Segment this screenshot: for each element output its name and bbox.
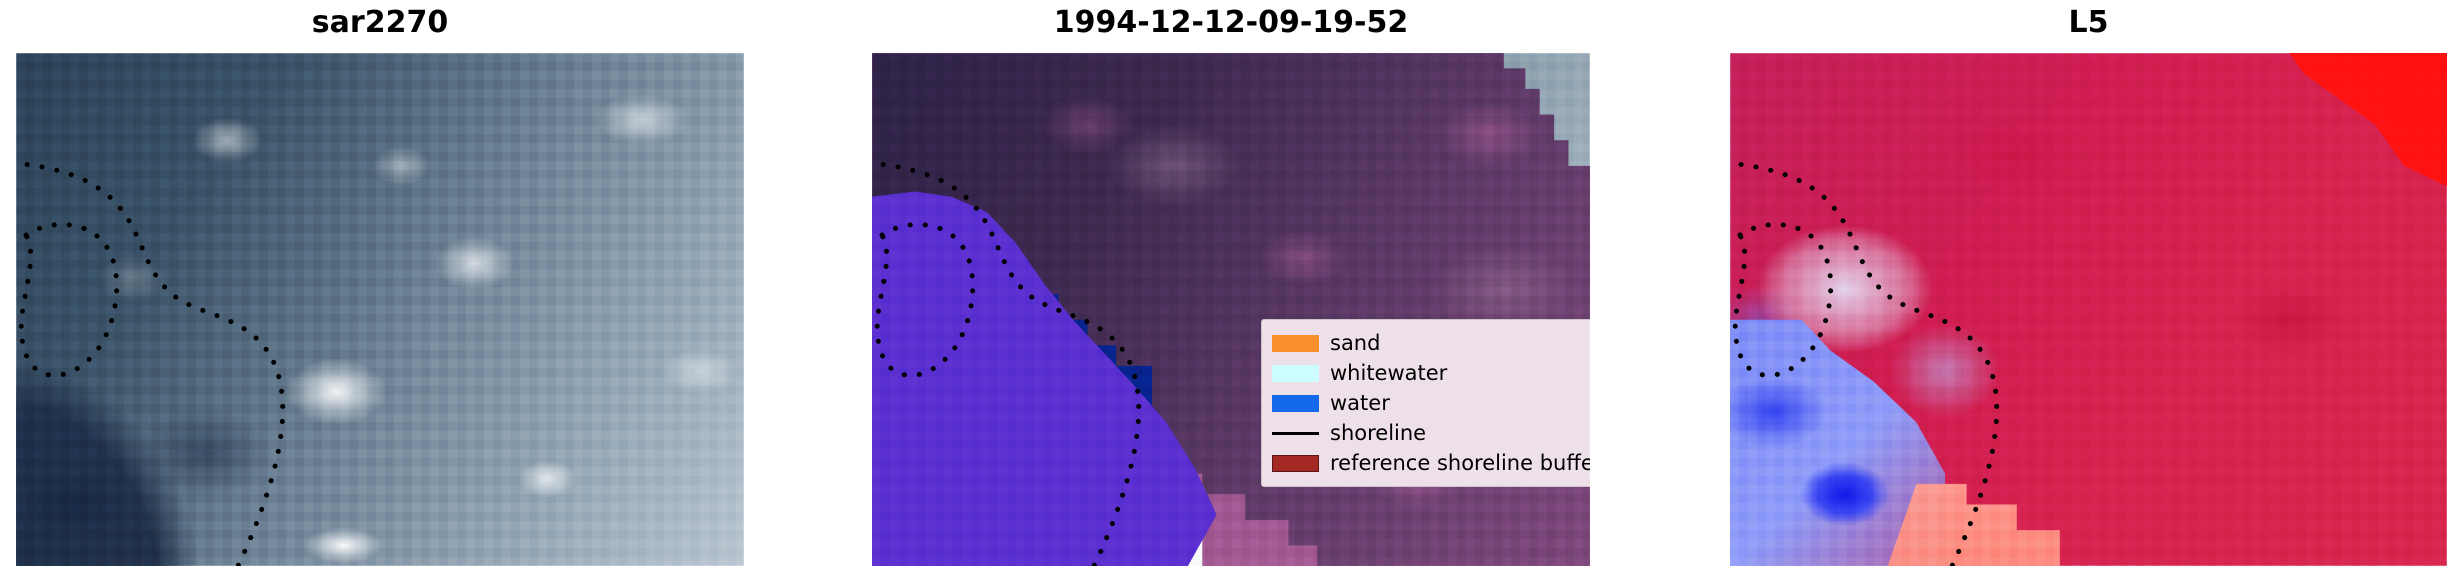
axes-l5 — [1730, 53, 2447, 566]
l5-pixel-grid — [1730, 53, 2447, 566]
legend-item-shoreline: shoreline — [1272, 418, 1590, 448]
legend-item-water: water — [1272, 388, 1590, 418]
classified-pixel-grid — [872, 53, 1590, 566]
legend-label-water: water — [1330, 388, 1390, 418]
legend-swatch-sand — [1272, 328, 1319, 358]
figure-canvas: sar2270 1994-12-12-09-19-52 — [0, 0, 2460, 582]
panel-classified: 1994-12-12-09-19-52 sand — [872, 0, 1590, 582]
legend-label-shoreline: shoreline — [1330, 418, 1426, 448]
axes-sar — [16, 53, 744, 566]
panel-sar: sar2270 — [16, 0, 744, 582]
legend-item-whitewater: whitewater — [1272, 358, 1590, 388]
legend-swatch-whitewater — [1272, 358, 1319, 388]
panel-title-classified: 1994-12-12-09-19-52 — [872, 4, 1590, 42]
legend-item-reference-shoreline-buffer: reference shoreline buffer — [1272, 448, 1590, 478]
legend-label-sand: sand — [1330, 328, 1380, 358]
legend-item-sand: sand — [1272, 328, 1590, 358]
panel-l5: L5 — [1730, 0, 2447, 582]
legend-box: sand whitewater water — [1261, 319, 1590, 487]
legend-label-whitewater: whitewater — [1330, 358, 1447, 388]
panel-title-l5: L5 — [1730, 4, 2447, 42]
panel-title-sar: sar2270 — [16, 4, 744, 42]
legend-swatch-reference-shoreline-buffer — [1272, 448, 1319, 478]
legend-label-reference-shoreline-buffer: reference shoreline buffer — [1330, 448, 1590, 478]
sar-pixel-grid — [16, 53, 744, 566]
legend-line-shoreline — [1272, 418, 1319, 448]
axes-classified: sand whitewater water — [872, 53, 1590, 566]
legend-swatch-water — [1272, 388, 1319, 418]
